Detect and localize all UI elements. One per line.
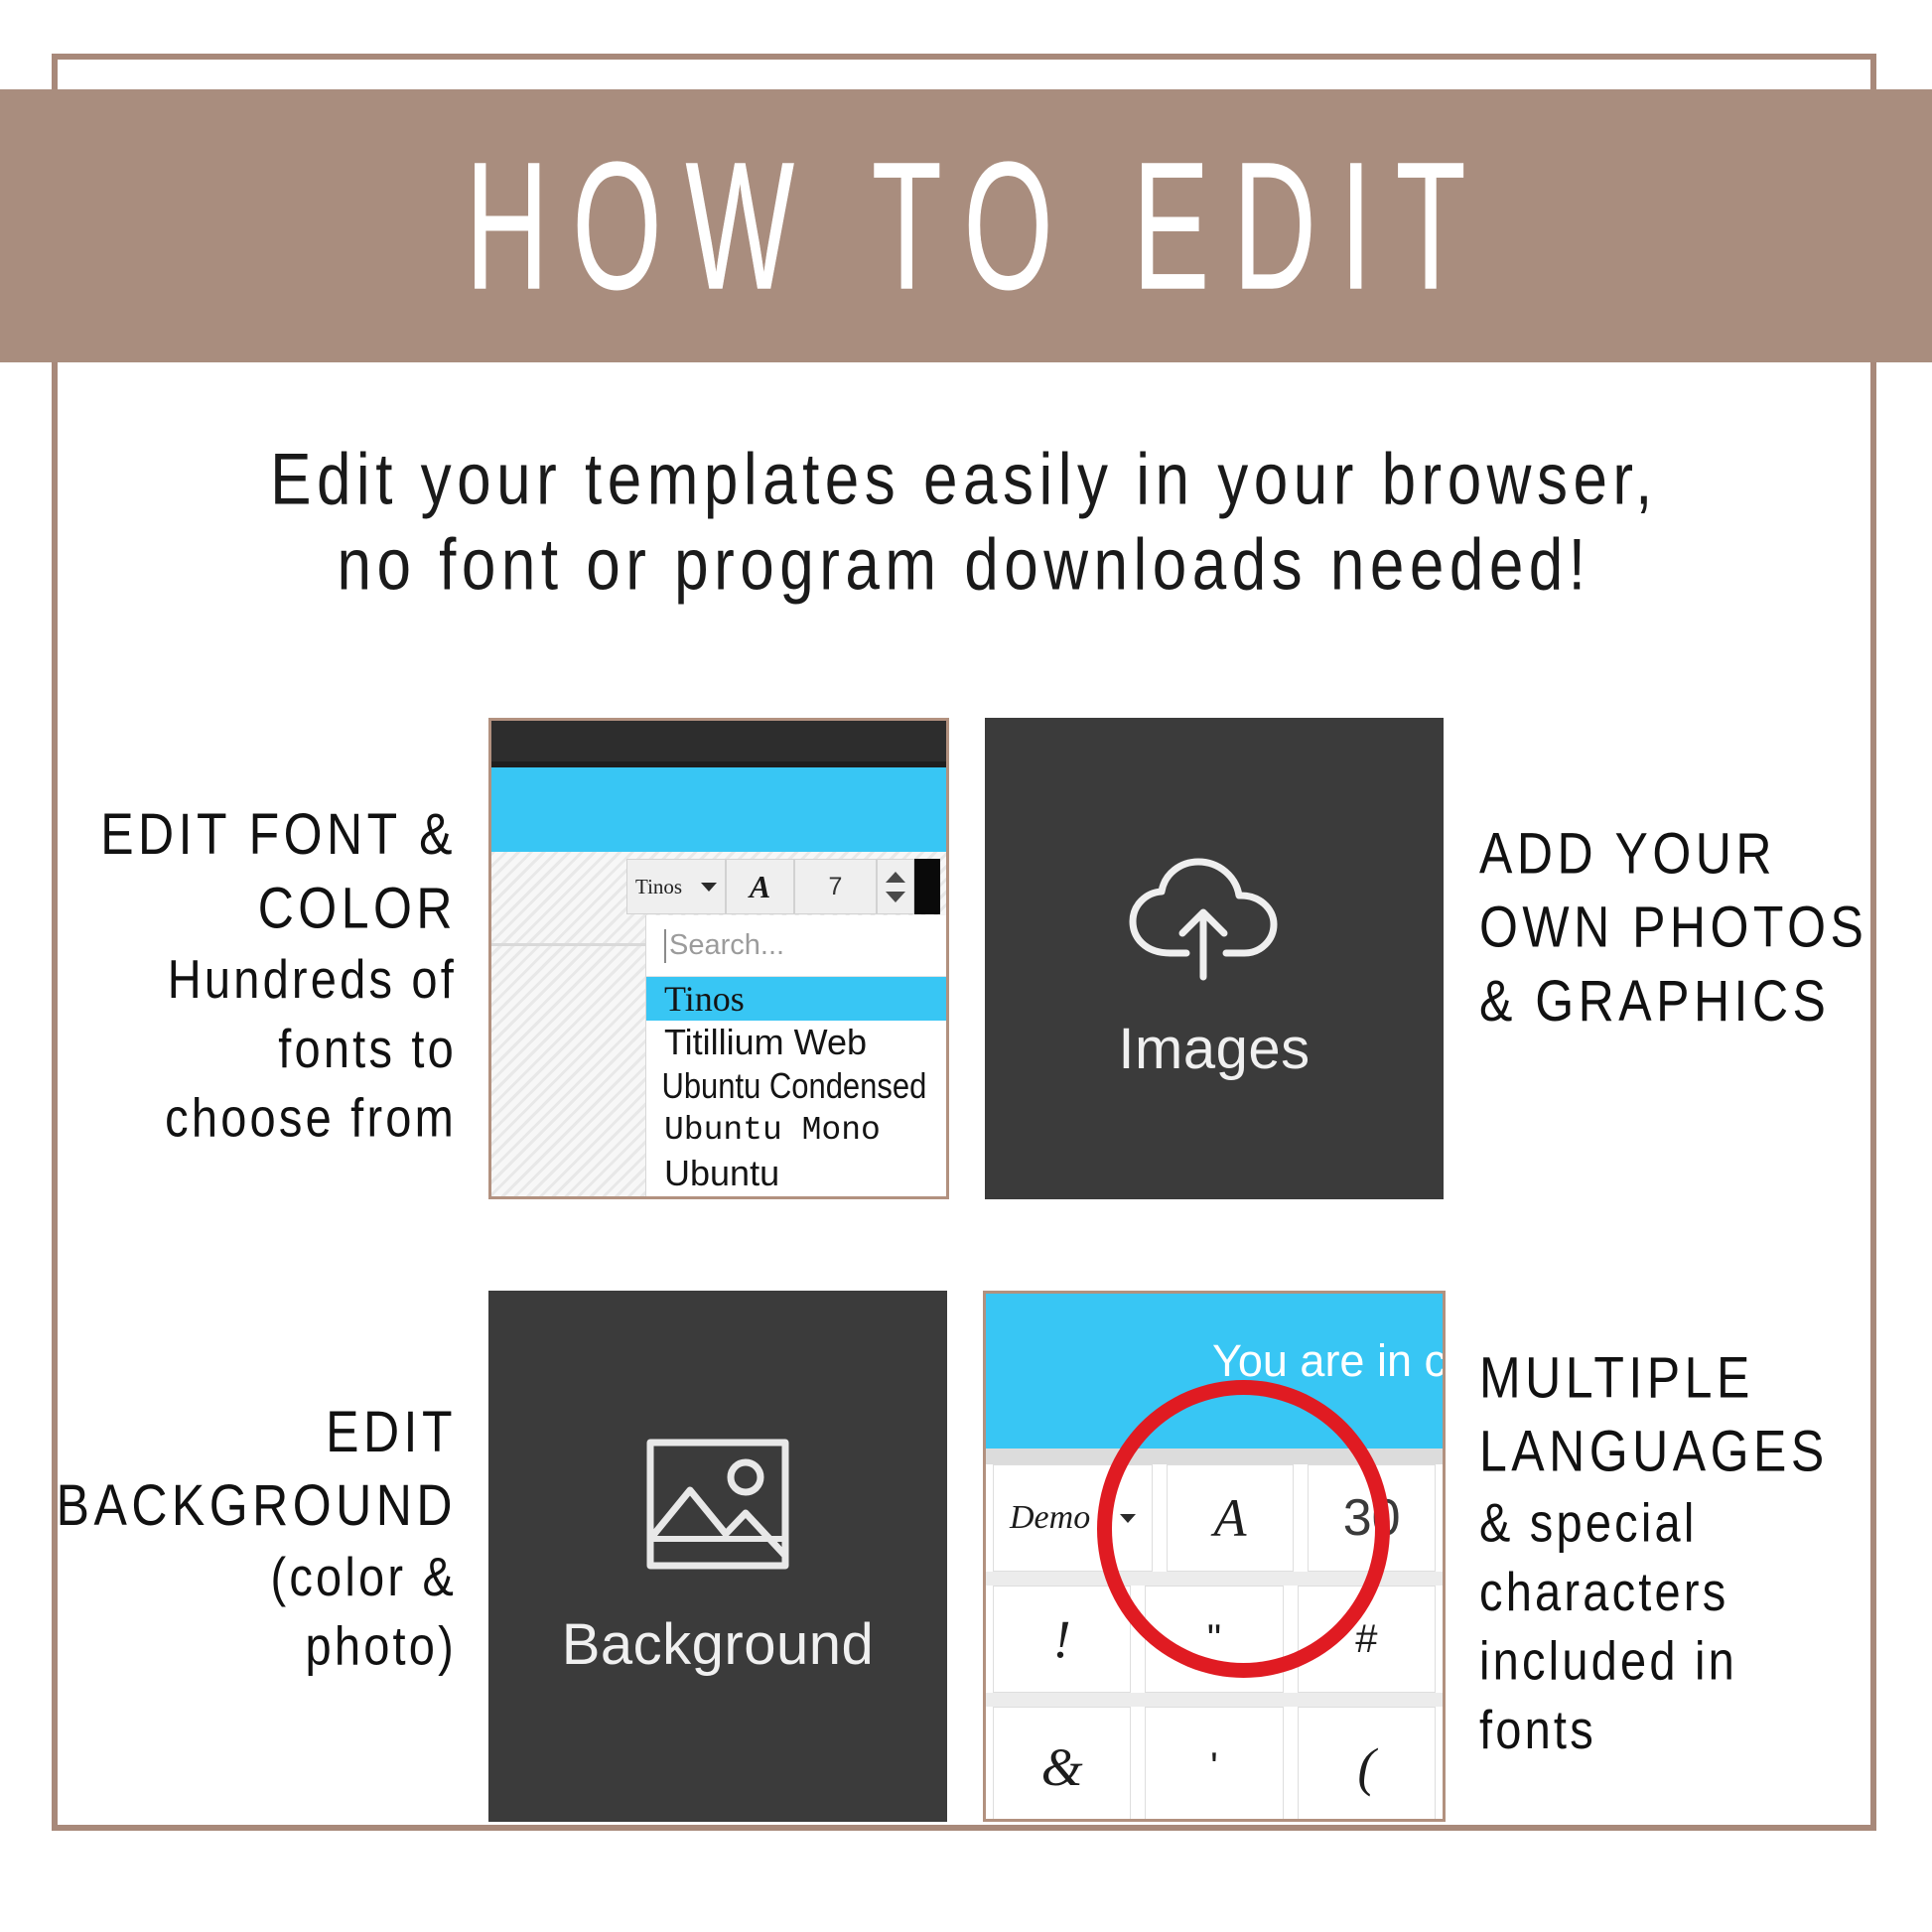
caption-line: included in [1479,1627,1932,1697]
font-list-dropdown[interactable]: Search... Tinos Titillium Web Ubuntu Con… [645,915,946,1196]
font-family-dropdown[interactable]: Demo [993,1464,1153,1572]
font-preview-glyph-button[interactable]: A [1167,1464,1295,1572]
font-family-dropdown[interactable]: Tinos [626,859,726,914]
character-key[interactable]: # [1298,1586,1436,1693]
character-row: ! " # [986,1586,1443,1707]
images-panel-label: Images [1118,1016,1310,1082]
caption-multiple-languages: MULTIPLE LANGUAGES & special characters … [1479,1341,1932,1766]
font-size-value: 30 [1343,1488,1401,1548]
caption-line: fonts [1479,1696,1932,1765]
font-list-item[interactable]: Titillium Web [646,1021,946,1064]
font-preview-glyph-button[interactable]: A [726,859,794,914]
caption-line: characters [1479,1558,1932,1627]
font-size-input[interactable]: 30 [1308,1464,1436,1572]
font-size-stepper[interactable] [877,859,914,914]
font-search-placeholder: Search... [669,929,784,962]
caption-edit-font-color: EDIT FONT & COLOR Hundreds of fonts to c… [60,797,457,1153]
subtitle-line-1: Edit your templates easily in your brows… [52,437,1876,522]
subtitle: Edit your templates easily in your brows… [52,437,1876,609]
app-titlebar [491,721,946,761]
caption-line: Hundreds of [60,945,457,1015]
special-characters-screenshot: You are in c Demo A 30 ! " # [983,1291,1446,1822]
caption-line: photo) [20,1611,457,1681]
caption-line: choose from [60,1083,457,1153]
images-panel[interactable]: Images [985,718,1444,1199]
script-a-glyph: A [750,869,770,905]
header-band: HOW TO EDIT [0,89,1932,362]
font-toolbar: Tinos A 7 [626,859,940,914]
toolbar-row: Demo A 30 [986,1464,1443,1586]
chevron-down-icon [1120,1514,1136,1523]
character-glyph: & [1041,1736,1083,1798]
caption-line: MULTIPLE [1479,1341,1932,1415]
character-key[interactable]: ' [1145,1707,1283,1822]
caption-line: & GRAPHICS [1479,964,1932,1037]
panel-separator [986,1449,1443,1464]
caret-up-icon[interactable] [886,872,905,883]
caret-down-icon[interactable] [886,892,905,902]
font-list-item-label: Ubuntu Condensed [661,1065,926,1107]
script-a-glyph: A [1214,1487,1247,1549]
caption-line: EDIT FONT & [60,797,457,871]
font-editor-screenshot: Tinos A 7 Search... Tinos Titillium Web … [488,718,949,1199]
font-family-value: Demo [1010,1499,1090,1537]
character-key[interactable]: ! [993,1586,1131,1693]
background-panel-label: Background [562,1611,875,1678]
font-list-item-label: Titillium Web [664,1022,867,1063]
caption-line: LANGUAGES [1479,1415,1932,1488]
cloud-upload-icon [1115,836,1313,990]
font-size-input[interactable]: 7 [794,859,877,914]
character-glyph: ' [1210,1745,1218,1790]
character-glyph: ( [1357,1736,1375,1798]
font-family-value: Tinos [635,875,682,899]
font-list-item[interactable]: Ubuntu Condensed [646,1064,904,1108]
chevron-down-icon [701,883,717,892]
caption-line: fonts to [60,1015,457,1084]
page-title: HOW TO EDIT [442,135,1490,317]
font-list-item[interactable]: Ubuntu [646,1152,946,1195]
text-cursor [664,929,666,963]
caption-line: BACKGROUND [20,1468,457,1542]
caption-line: COLOR [60,872,457,945]
background-panel[interactable]: Background [488,1291,947,1822]
caption-edit-background: EDIT BACKGROUND (color & photo) [20,1395,457,1681]
character-key[interactable]: ( [1298,1707,1436,1822]
color-swatch-button[interactable] [914,859,940,914]
caption-add-photos: ADD YOUR OWN PHOTOS & GRAPHICS [1479,817,1932,1038]
caption-line: ADD YOUR [1479,817,1932,891]
picture-icon [643,1436,792,1586]
font-list-item-label: Ubuntu [664,1153,779,1194]
caption-line: EDIT [20,1395,457,1468]
character-glyph: # [1355,1617,1377,1662]
caption-line: OWN PHOTOS [1479,891,1932,964]
blue-banner [491,767,946,852]
font-list-item-label: Ubuntu Mono [664,1112,881,1149]
blue-banner: You are in c [986,1294,1443,1449]
subtitle-line-2: no font or program downloads needed! [52,522,1876,608]
caption-line: (color & [20,1543,457,1612]
banner-text: You are in c [1212,1335,1446,1387]
character-row: & ' ( [986,1707,1443,1822]
character-key[interactable]: & [993,1707,1131,1822]
font-list-item-label: Tinos [664,978,745,1020]
character-grid: Demo A 30 ! " # & [986,1464,1443,1819]
character-glyph: " [1207,1617,1221,1662]
font-search-input[interactable]: Search... [646,915,946,977]
character-key[interactable]: " [1145,1586,1283,1693]
font-size-value: 7 [829,873,843,901]
character-glyph: ! [1053,1608,1071,1670]
font-list-item[interactable]: Tinos [646,977,946,1021]
caption-line: & special [1479,1488,1932,1558]
font-list-item[interactable]: Ubuntu Mono [646,1108,946,1152]
